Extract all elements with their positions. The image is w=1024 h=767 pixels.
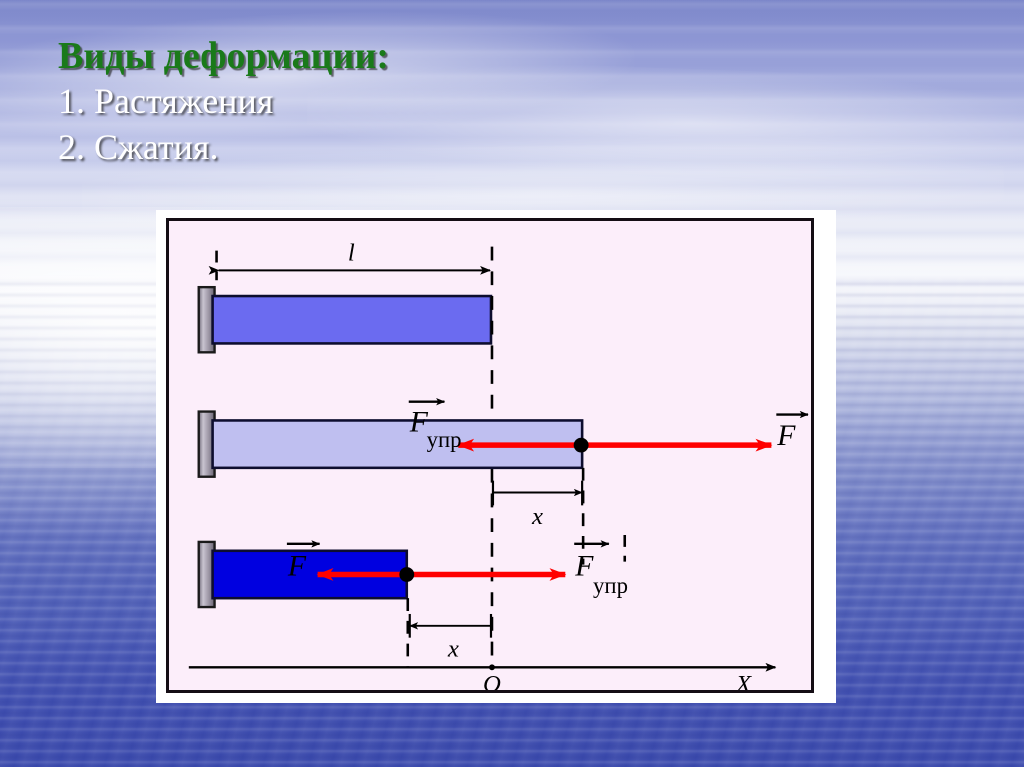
label-applied-force-stretched: F [776, 415, 808, 453]
origin-point [489, 664, 495, 670]
page-title: Виды деформации: [58, 34, 389, 78]
label-x-compressed: x [447, 635, 459, 662]
label-force-letter: F [776, 420, 796, 452]
slide-canvas: Виды деформации: 1. Растяжения 2. Сжатия… [0, 0, 1024, 767]
bar-relaxed [213, 296, 491, 343]
figure-frame: l [156, 210, 836, 703]
label-x-stretched: x [531, 503, 543, 530]
application-point-compressed [399, 567, 414, 582]
title-list-item-2: 2. Сжатия. [58, 124, 389, 170]
label-elastic-force-compressed: F упр [574, 544, 628, 598]
application-point-stretched [574, 438, 589, 453]
deformation-diagram: l [169, 221, 811, 690]
title-list-item-1: 1. Растяжения [58, 78, 389, 124]
label-force-subscript: упр [427, 427, 462, 452]
figure-canvas: l [166, 218, 814, 693]
label-force-letter: F [574, 551, 594, 583]
label-origin: O [483, 671, 501, 690]
title-block: Виды деформации: 1. Растяжения 2. Сжатия… [58, 34, 389, 170]
label-force-subscript: упр [593, 573, 628, 598]
label-force-letter: F [287, 551, 307, 583]
label-length: l [348, 240, 355, 267]
label-axis-x: X [735, 671, 752, 690]
